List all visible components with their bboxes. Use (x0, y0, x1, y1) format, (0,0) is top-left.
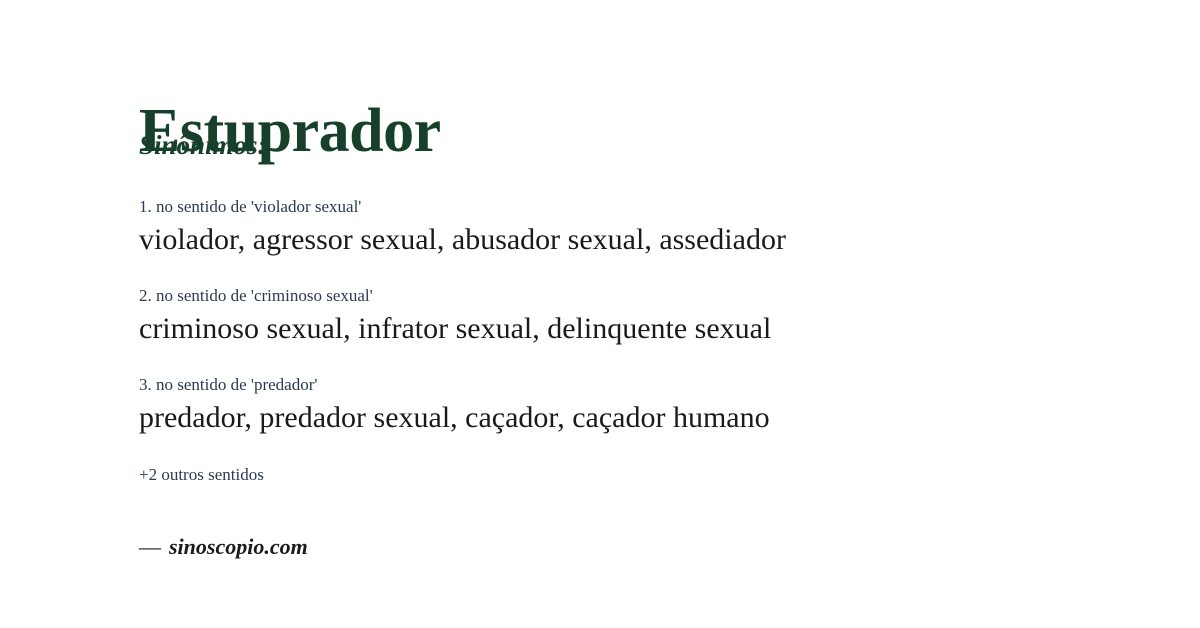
source-attribution: —sinoscopio.com (139, 534, 308, 560)
sense-label: 2. no sentido de 'criminoso sexual' (139, 285, 1099, 308)
sense-label: 3. no sentido de 'predador' (139, 374, 1099, 397)
sense-entry: 1. no sentido de 'violador sexual' viola… (139, 196, 1099, 259)
source-name: sinoscopio.com (169, 534, 308, 559)
sense-entry: 2. no sentido de 'criminoso sexual' crim… (139, 285, 1099, 348)
sense-entry: 3. no sentido de 'predador' predador, pr… (139, 374, 1099, 437)
em-dash-icon: — (139, 534, 161, 559)
sense-synonyms: violador, agressor sexual, abusador sexu… (139, 220, 1099, 259)
senses-list: 1. no sentido de 'violador sexual' viola… (139, 196, 1099, 437)
synonyms-subtitle: Sinônimos: (139, 132, 267, 159)
thesaurus-card: Estuprador Sinônimos: 1. no sentido de '… (0, 0, 1200, 628)
sense-label: 1. no sentido de 'violador sexual' (139, 196, 1099, 219)
more-senses-note: +2 outros sentidos (139, 464, 264, 487)
sense-synonyms: criminoso sexual, infrator sexual, delin… (139, 309, 1099, 348)
sense-synonyms: predador, predador sexual, caçador, caça… (139, 398, 1099, 437)
